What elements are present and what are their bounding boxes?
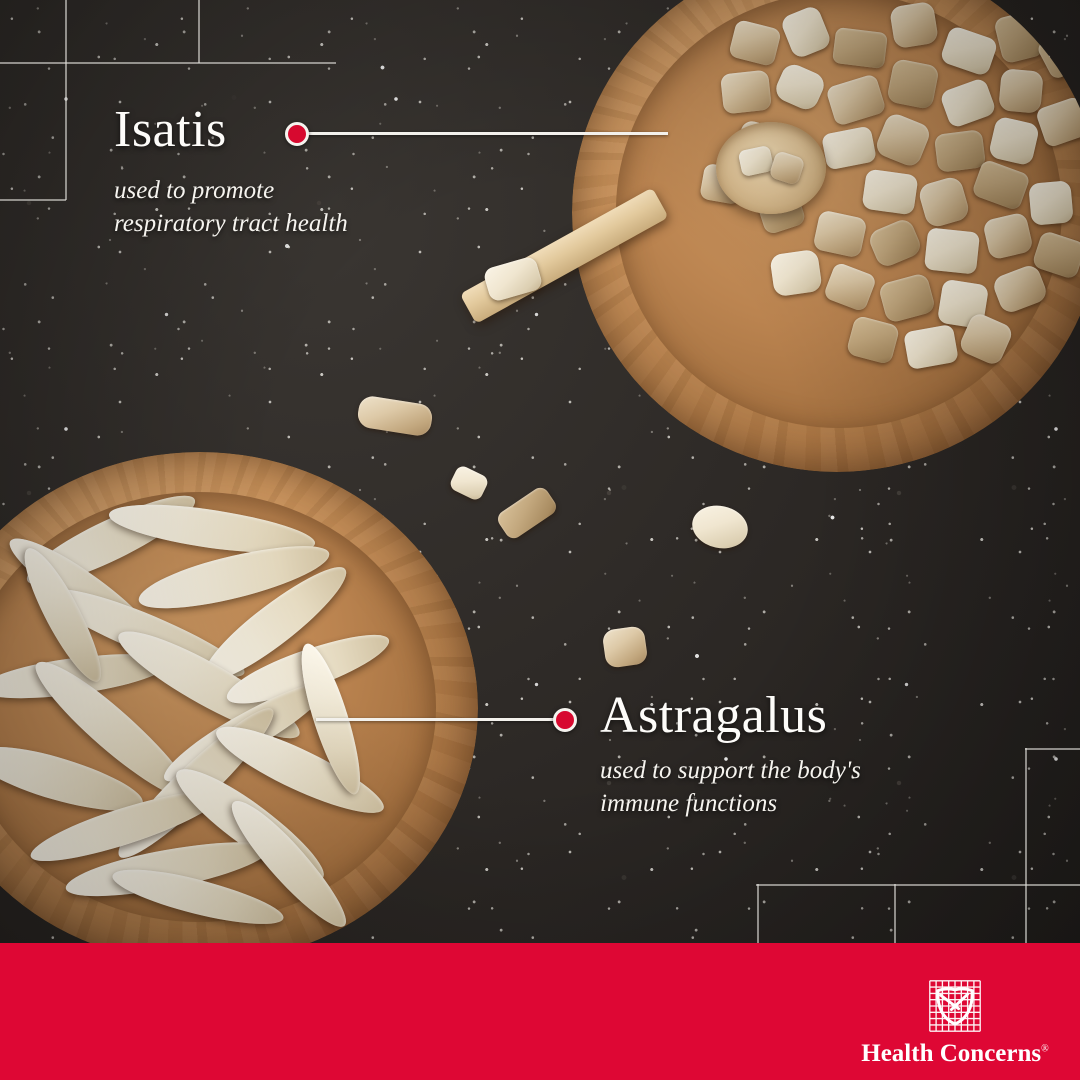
deco-line-tl-vertical-2 bbox=[198, 0, 200, 63]
grid-shield-icon bbox=[928, 979, 982, 1033]
astragalus-callout-dot bbox=[553, 708, 577, 732]
astragalus-label: Astragalus used to support the body's im… bbox=[600, 690, 1040, 820]
logo-wordmark: Health Concerns® bbox=[860, 1041, 1050, 1066]
isatis-label: Isatis used to promote respiratory tract… bbox=[114, 104, 534, 240]
logo-trademark: ® bbox=[1041, 1044, 1049, 1055]
isatis-title: Isatis bbox=[114, 104, 534, 156]
astragalus-title: Astragalus bbox=[600, 690, 1040, 742]
isatis-description-line-2: respiratory tract health bbox=[114, 207, 534, 240]
deco-line-tl-horizontal-2 bbox=[0, 199, 66, 201]
deco-line-tl-horizontal-1 bbox=[0, 62, 336, 64]
astragalus-description: used to support the body's immune functi… bbox=[600, 754, 1040, 820]
deco-line-br-horizontal-2 bbox=[756, 884, 1080, 886]
astragalus-description-line-1: used to support the body's bbox=[600, 754, 1040, 787]
deco-line-tl-vertical-1 bbox=[65, 0, 67, 200]
astragalus-description-line-2: immune functions bbox=[600, 787, 1040, 820]
deco-line-br-vertical-2 bbox=[894, 884, 896, 944]
logo-brand-name: Health Concerns bbox=[861, 1040, 1041, 1067]
isatis-description-line-1: used to promote bbox=[114, 174, 534, 207]
isatis-description: used to promote respiratory tract health bbox=[114, 174, 534, 240]
deco-line-br-vertical-3 bbox=[757, 884, 759, 944]
health-concerns-logo: Health Concerns® bbox=[860, 979, 1050, 1066]
astragalus-callout-line bbox=[316, 718, 566, 721]
promo-graphic: Isatis used to promote respiratory tract… bbox=[0, 0, 1080, 1080]
